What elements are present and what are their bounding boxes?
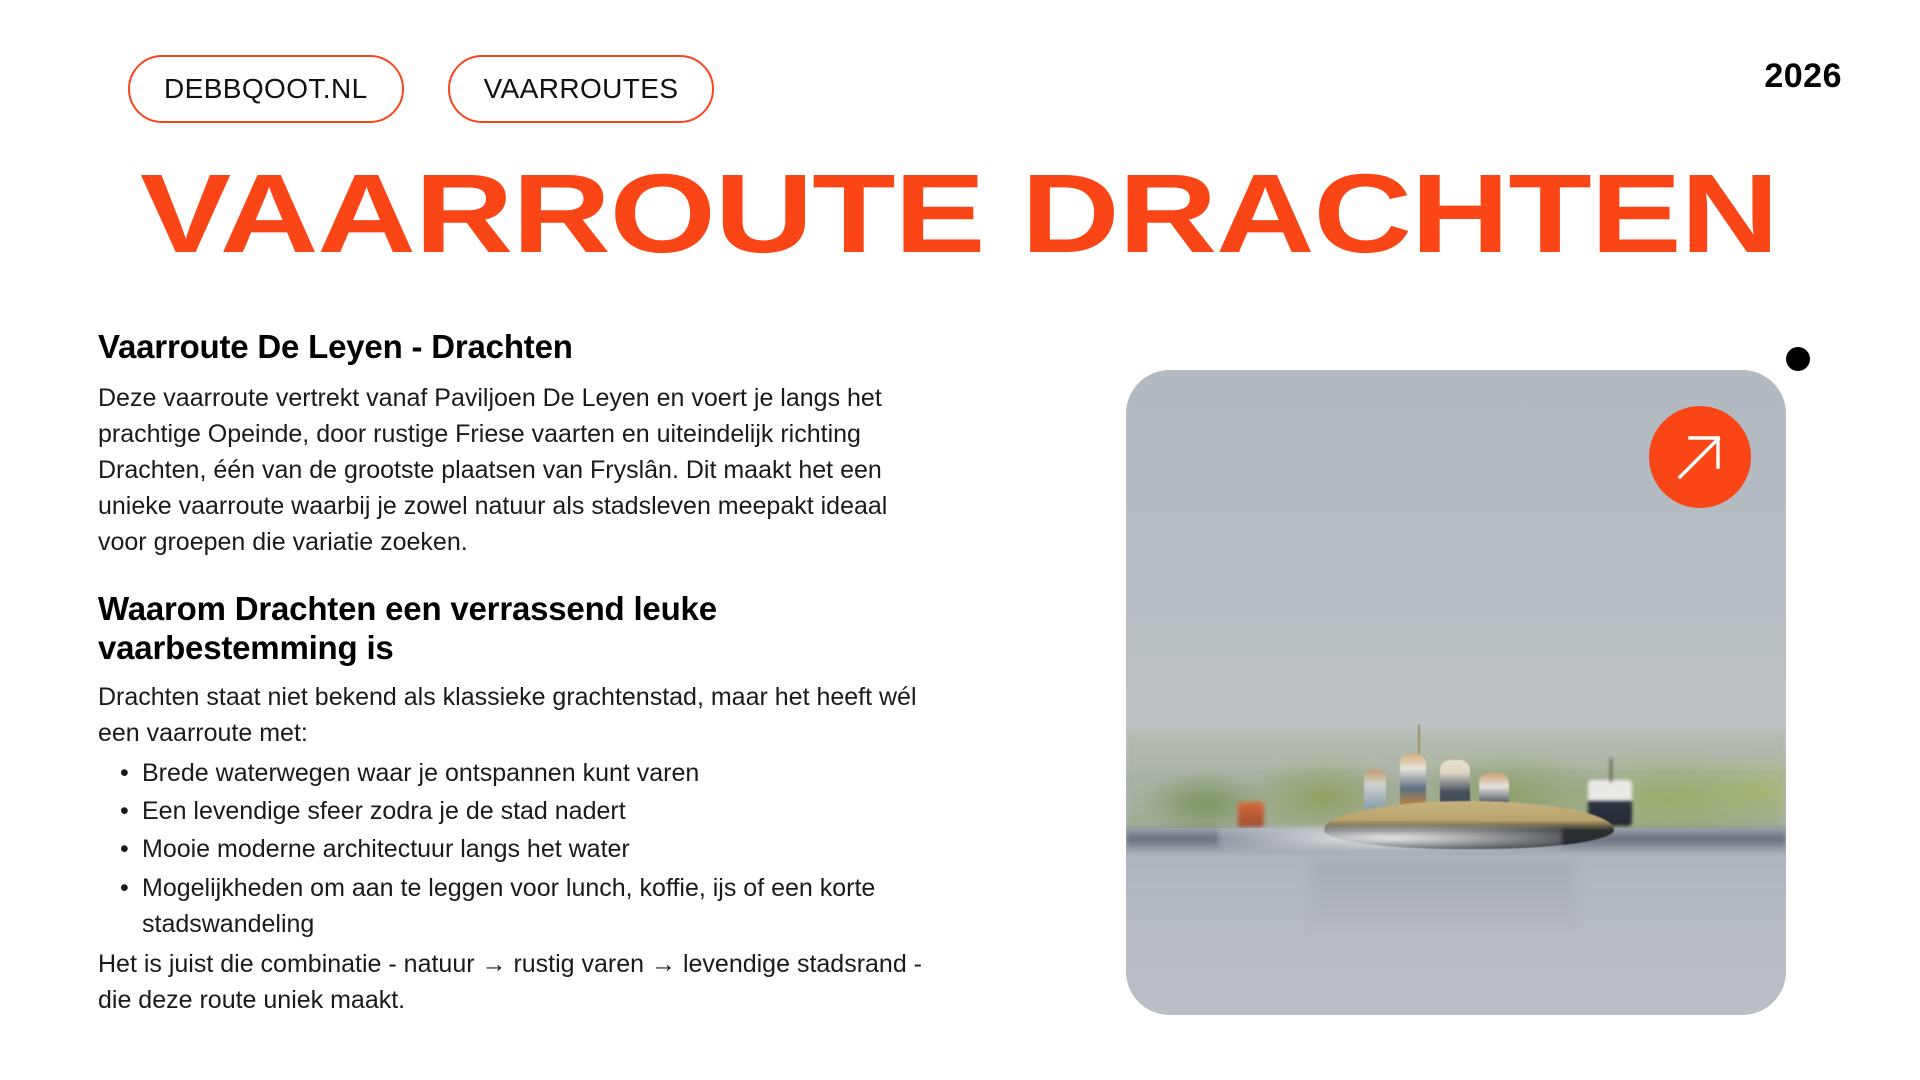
header-pill-group: DEBBQOOT.NL VAARROUTES bbox=[128, 55, 714, 123]
closing-paragraph: Het is juist die combinatie - natuur → r… bbox=[98, 946, 928, 1019]
content-column: Vaarroute De Leyen - Drachten Deze vaarr… bbox=[98, 328, 928, 1019]
page-title: VAARROUTE DRACHTEN bbox=[140, 158, 1778, 270]
year-label: 2026 bbox=[1764, 57, 1842, 96]
list-item: Mogelijkheden om aan te leggen voor lunc… bbox=[142, 870, 928, 943]
pill-debbqoot[interactable]: DEBBQOOT.NL bbox=[128, 55, 404, 123]
benefits-list: Brede waterwegen waar je ontspannen kunt… bbox=[98, 755, 928, 942]
photo-person-2 bbox=[1400, 754, 1426, 810]
arrow-up-right-icon[interactable] bbox=[1649, 406, 1751, 508]
section-heading-waarom: Waarom Drachten een verrassend leuke vaa… bbox=[98, 590, 928, 668]
list-item: Mooie moderne architectuur langs het wat… bbox=[142, 831, 928, 867]
section-intro-waarom: Drachten staat niet bekend als klassieke… bbox=[98, 679, 928, 751]
section-heading-route: Vaarroute De Leyen - Drachten bbox=[98, 328, 928, 367]
photo-card[interactable] bbox=[1126, 370, 1786, 1015]
list-item: Brede waterwegen waar je ontspannen kunt… bbox=[142, 755, 928, 791]
pill-vaarroutes[interactable]: VAARROUTES bbox=[448, 55, 715, 123]
slide-root: DEBBQOOT.NL VAARROUTES 2026 VAARROUTE DR… bbox=[0, 0, 1920, 1080]
pill-debbqoot-label: DEBBQOOT.NL bbox=[164, 73, 368, 105]
decorative-dot bbox=[1786, 347, 1810, 371]
photo-reflection bbox=[1311, 860, 1575, 930]
pill-vaarroutes-label: VAARROUTES bbox=[484, 73, 679, 105]
list-item: Een levendige sfeer zodra je de stad nad… bbox=[142, 793, 928, 829]
section-paragraph-route: Deze vaarroute vertrekt vanaf Paviljoen … bbox=[98, 380, 928, 560]
photo-wake-foam bbox=[1218, 825, 1561, 851]
